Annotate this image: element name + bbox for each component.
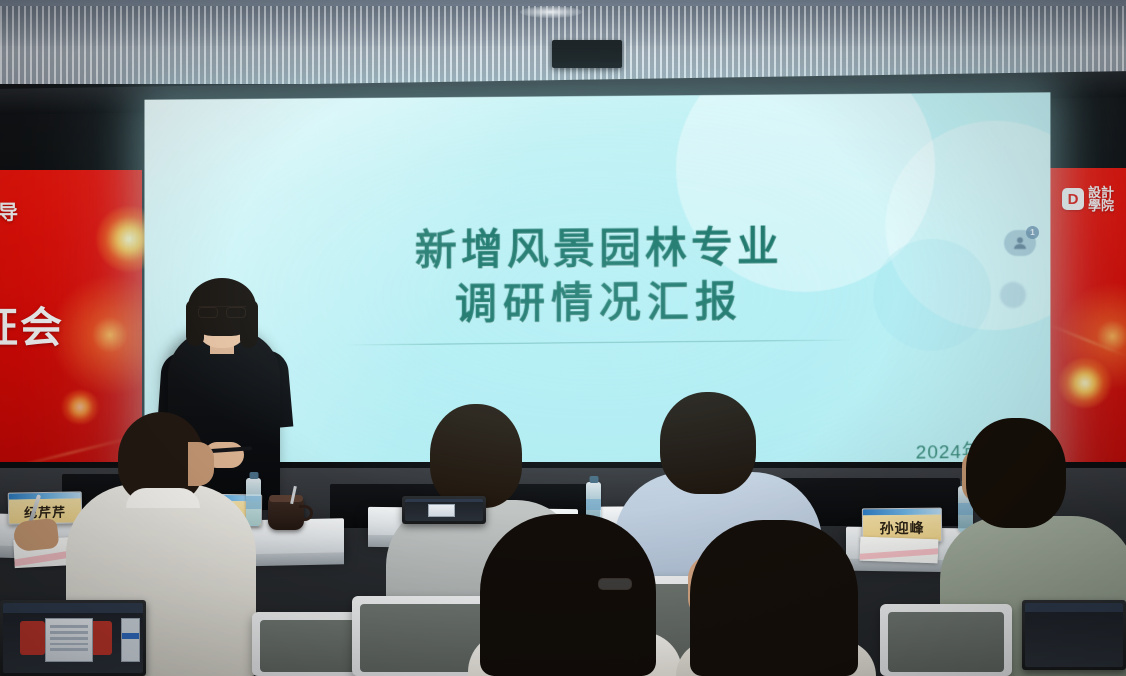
laptop-right-screen — [1025, 603, 1123, 667]
slide-title-divider — [342, 339, 854, 345]
laptop-center-screen — [405, 499, 483, 521]
laptop-red-graphic-right — [90, 621, 112, 655]
audience-left-collar — [126, 488, 200, 508]
laptop-dialog-row — [50, 631, 88, 634]
mug-lid — [269, 495, 303, 502]
audience-left-face — [188, 442, 214, 486]
laptop-right[interactable] — [1022, 600, 1126, 670]
presenter-lens-right — [226, 307, 246, 318]
chair-cushion — [260, 620, 364, 672]
audience-front-woman-hair — [480, 514, 656, 676]
laptop-dialog — [428, 504, 455, 518]
conference-room-screenshot: 指导 院 证会 D 設計 學院 新增风景园林专业 调研情况汇报 2024年5月2… — [0, 0, 1126, 676]
ceiling-speaker — [552, 40, 622, 68]
chair — [880, 604, 1012, 676]
bottle-cap — [249, 472, 258, 479]
laptop-dialog-row — [50, 648, 88, 651]
audience-front-woman-glasses — [598, 578, 632, 590]
coffee-mug — [268, 498, 304, 530]
logo-d-icon: D — [1062, 188, 1084, 210]
water-bottle — [246, 478, 261, 526]
laptop-selected-row — [122, 633, 140, 640]
ceiling-light — [520, 6, 582, 18]
laptop-side-panel — [121, 618, 141, 661]
presenter-lens-left — [198, 307, 218, 318]
logo-letter: D — [1068, 192, 1079, 207]
document-sheet — [860, 537, 939, 564]
paper-highlight — [860, 548, 938, 560]
slide-title-line1: 新增风景园林专业 — [144, 218, 1050, 280]
banner-left-line1: 指导 — [0, 196, 18, 225]
laptop-center[interactable] — [402, 496, 486, 524]
chevron-left-icon[interactable] — [1000, 282, 1026, 308]
laptop-dialog-row — [50, 625, 88, 628]
presenter-glasses — [198, 306, 246, 317]
laptop-red-graphic-left — [20, 621, 45, 655]
audience-center-head — [430, 404, 522, 508]
laptop-dialog-row — [50, 637, 88, 640]
laptop-left-screen — [3, 603, 143, 673]
design-academy-logo: D 設計 學院 — [1062, 186, 1114, 213]
audience-front-woman2-hair — [690, 520, 858, 676]
banner-left-line3: 证会 — [0, 294, 64, 355]
bottle-label — [586, 499, 601, 510]
laptop-dialog-row — [50, 643, 88, 646]
laptop-dialog — [45, 618, 93, 661]
audience-far-right-head — [966, 418, 1066, 528]
laptop-titlebar — [1025, 603, 1123, 612]
logo-line2: 學院 — [1088, 199, 1114, 212]
chair-cushion — [888, 612, 1004, 672]
bottle-label — [246, 496, 261, 508]
laptop-titlebar — [405, 499, 483, 502]
bottle-cap — [589, 476, 598, 483]
banner-right-glow — [1058, 358, 1112, 408]
slide-title-line2: 调研情况汇报 — [144, 271, 1050, 334]
laptop-left[interactable] — [0, 600, 146, 676]
laptop-titlebar — [3, 603, 143, 613]
presentation-screen: 新增风景园林专业 调研情况汇报 2024年5月2 — [144, 92, 1050, 493]
slide-title: 新增风景园林专业 调研情况汇报 — [144, 218, 1050, 334]
hand-writing — [13, 518, 60, 552]
participant-count-badge: 1 — [1026, 226, 1039, 239]
banner-right — [1050, 168, 1126, 474]
audience-right-head — [660, 392, 756, 494]
logo-wordmark: 設計 學院 — [1088, 186, 1114, 213]
banner-left-glow-secondary — [60, 390, 100, 424]
